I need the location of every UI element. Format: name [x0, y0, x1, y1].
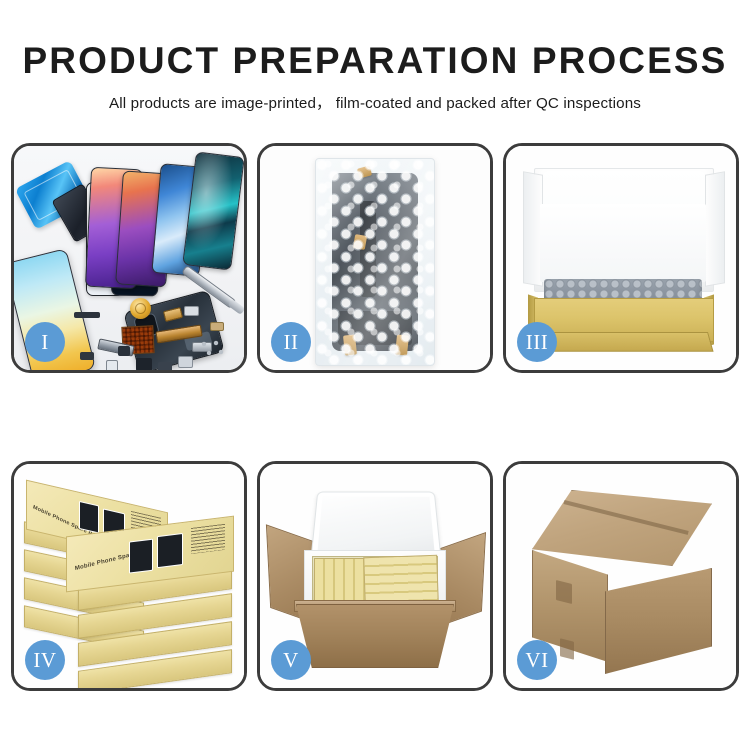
- carton-tab-lower: [560, 638, 574, 659]
- process-step-panel-4[interactable]: Mobile Phone Spare Parts Mobile Phone Sp…: [11, 461, 247, 691]
- step-badge-1: I: [25, 322, 65, 362]
- spare-part-vibrator: [80, 352, 94, 360]
- box-spec-lines: [191, 524, 225, 554]
- plastic-sheen: [316, 159, 434, 365]
- process-step-panel-5[interactable]: V: [257, 461, 493, 691]
- page-title: PRODUCT PREPARATION PROCESS: [0, 42, 750, 79]
- process-step-panel-6[interactable]: VI: [503, 461, 739, 691]
- spare-part-bracket: [178, 356, 193, 368]
- box-window-1: [129, 539, 153, 574]
- step-badge-2: II: [271, 322, 311, 362]
- page-subtitle: All products are image-printed， film-coa…: [0, 91, 750, 113]
- process-step-panel-1[interactable]: I: [11, 143, 247, 373]
- step-badge-5: V: [271, 640, 311, 680]
- header: PRODUCT PREPARATION PROCESS All products…: [0, 0, 750, 113]
- spare-part-camera-module: [106, 360, 118, 370]
- process-step-panel-3[interactable]: III: [503, 143, 739, 373]
- box-window-2: [157, 533, 183, 568]
- kraft-box-front-face: [534, 332, 713, 352]
- box-window-1: [79, 501, 99, 534]
- carton-tab-upper: [556, 580, 572, 604]
- screws-cluster: [200, 340, 226, 358]
- wireless-charging-coil: [130, 298, 151, 319]
- spare-part-connector: [184, 306, 199, 316]
- white-foam-sheet: [540, 204, 706, 282]
- spare-part-gold-contact: [210, 322, 224, 331]
- spare-part-ic-chip: [136, 358, 152, 370]
- carton-front-face: [296, 604, 454, 668]
- spare-part-speaker: [158, 362, 172, 370]
- step-badge-3: III: [517, 322, 557, 362]
- spare-part-strip: [74, 312, 100, 318]
- yellow-boxes-row-right: [363, 555, 439, 606]
- process-step-grid: I II: [11, 143, 739, 691]
- process-step-panel-2[interactable]: II: [257, 143, 493, 373]
- step-badge-4: IV: [25, 640, 65, 680]
- step-badge-6: VI: [517, 640, 557, 680]
- spare-part-shield-can: [118, 346, 130, 356]
- bubble-wrap-bag: [315, 158, 435, 366]
